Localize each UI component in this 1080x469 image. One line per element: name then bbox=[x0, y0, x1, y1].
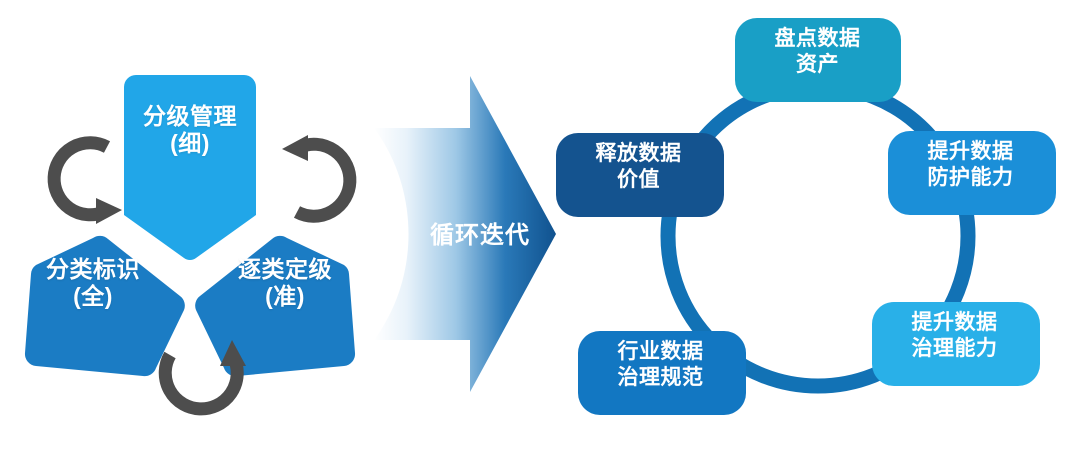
curved-arrow-right-icon bbox=[282, 135, 350, 216]
diagram-canvas: 分级管理 (细) 分类标识 (全) 逐类定级 (准) 循环迭代 盘点数据 资产 … bbox=[0, 0, 1080, 469]
cycle-node-pandian-shuju-zichan[interactable] bbox=[735, 18, 901, 102]
shape-fenji-guanli[interactable] bbox=[124, 75, 256, 260]
cycle-node-shifang-shuju-jiazhi[interactable] bbox=[556, 133, 724, 217]
diagram-vector-layer bbox=[0, 0, 1080, 469]
curved-arrow-bottom-icon bbox=[165, 340, 246, 409]
curved-arrow-left-icon bbox=[54, 143, 122, 224]
cycle-iteration-arrow bbox=[374, 76, 556, 392]
cycle-node-hangye-shuju-guifan[interactable] bbox=[578, 331, 746, 415]
cycle-node-tisheng-shuju-fanghu[interactable] bbox=[888, 131, 1056, 215]
shape-fenlei-biaoshi[interactable] bbox=[25, 236, 185, 376]
cycle-node-tisheng-shuju-zhili[interactable] bbox=[872, 302, 1040, 386]
shape-zhulei-dingji[interactable] bbox=[195, 236, 355, 376]
